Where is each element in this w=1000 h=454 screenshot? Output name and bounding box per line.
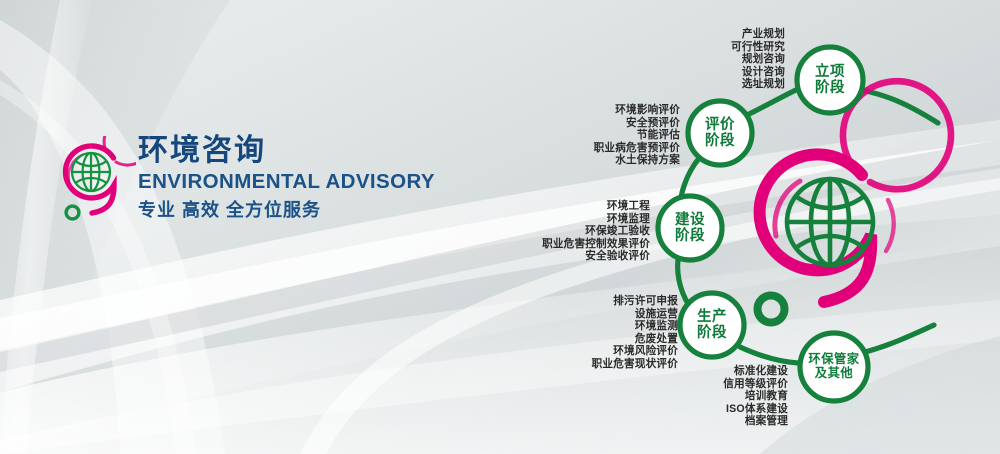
stage-2-item: 水土保持方案 [535,154,680,167]
stage-1-circle [797,47,863,113]
stage-5-item: 档案管理 [658,415,788,428]
stage-1-item: 可行性研究 [650,41,785,54]
stage-1-items: 产业规划 可行性研究 规划咨询 设计咨询 选址规划 [650,28,785,91]
stage-3-item: 环境工程 [500,200,650,213]
globe-swirl-logo-icon [58,136,136,226]
stage-1-item: 选址规划 [650,78,785,91]
stage-3-item: 环境监理 [500,213,650,226]
stage-3-circle [658,196,722,260]
stage-3-item: 安全验收评价 [500,250,650,263]
globe-icon [787,179,873,265]
brand-logo [58,136,136,226]
stage-4-item: 排污许可申报 [528,295,678,308]
brand-title-en: ENVIRONMENTAL ADVISORY [138,169,478,195]
stage-4-item: 设施运营 [528,308,678,321]
banner-canvas: 环境咨询 ENVIRONMENTAL ADVISORY 专业 高效 全方位服务 [0,0,1000,454]
stage-3-items: 环境工程 环境监理 环保竣工验收 职业危害控制效果评价 安全验收评价 [500,200,650,263]
stage-3-item: 环保竣工验收 [500,225,650,238]
brand-slogan: 专业 高效 全方位服务 [138,197,478,224]
brand-block: 环境咨询 ENVIRONMENTAL ADVISORY 专业 高效 全方位服务 [58,133,478,238]
stage-1-item: 规划咨询 [650,53,785,66]
stage-3-item: 职业危害控制效果评价 [500,238,650,251]
green-ring-dot-icon [758,296,785,323]
stage-4-item: 环境风险评价 [528,345,678,358]
stage-5-items: 标准化建设 信用等级评价 培训教育 ISO体系建设 档案管理 [658,365,788,428]
stage-2-items: 环境影响评价 安全预评价 节能评估 职业病危害预评价 水土保持方案 [535,104,680,167]
stage-5-circle [800,333,868,401]
stage-4-items: 排污许可申报 设施运营 环境监测 危废处置 环境风险评价 职业危害现状评价 [528,295,678,371]
brand-text-block: 环境咨询 ENVIRONMENTAL ADVISORY 专业 高效 全方位服务 [138,133,478,224]
stage-1-item: 产业规划 [650,28,785,41]
stage-5-item: 标准化建设 [658,365,788,378]
stage-2-circle [688,101,752,165]
stage-2-item: 职业病危害预评价 [535,142,680,155]
stage-5-item: 信用等级评价 [658,378,788,391]
stage-2-item: 安全预评价 [535,117,680,130]
process-diagram: 立项 阶段 评价 阶段 建设 阶段 生产 阶段 环保管家 及其他 产业规划 可行… [500,0,1000,454]
stage-4-circle [680,293,744,357]
stage-2-item: 节能评估 [535,129,680,142]
stage-5-item: 培训教育 [658,390,788,403]
brand-title-cn: 环境咨询 [138,133,478,169]
stage-4-item: 环境监测 [528,320,678,333]
stage-4-item: 职业危害现状评价 [528,358,678,371]
stage-1-item: 设计咨询 [650,66,785,79]
stage-2-item: 环境影响评价 [535,104,680,117]
stage-4-item: 危废处置 [528,333,678,346]
stage-5-item: ISO体系建设 [658,403,788,416]
